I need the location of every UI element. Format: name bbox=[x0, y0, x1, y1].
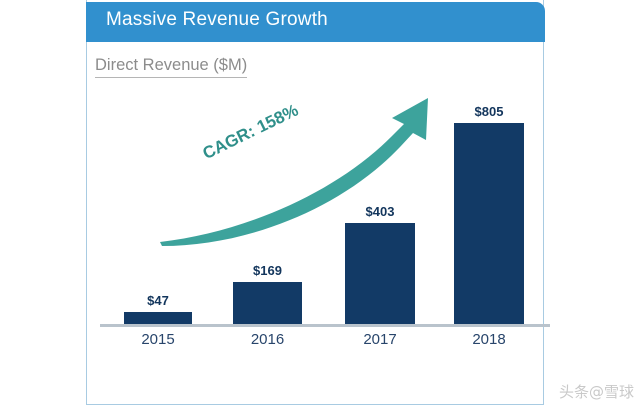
chart-plot-area: $472015$1692016$4032017$8052018 CAGR: 15… bbox=[86, 42, 544, 405]
x-axis-label-2015: 2015 bbox=[116, 331, 200, 348]
bar-value-label-2017: $403 bbox=[345, 204, 415, 219]
bar-2018 bbox=[454, 123, 524, 324]
bar-value-label-2016: $169 bbox=[233, 263, 302, 278]
page-title: Massive Revenue Growth bbox=[106, 9, 328, 31]
cagr-annotation-label: CAGR: 158% bbox=[200, 100, 302, 164]
x-axis-label-2018: 2018 bbox=[446, 331, 532, 348]
bar-value-label-2015: $47 bbox=[124, 293, 192, 308]
bar-2017 bbox=[345, 223, 415, 324]
slide-header-bar: Massive Revenue Growth bbox=[86, 2, 545, 42]
bar-2015 bbox=[124, 312, 192, 324]
bar-2016 bbox=[233, 282, 302, 324]
x-axis-line bbox=[100, 324, 550, 327]
x-axis-label-2017: 2017 bbox=[337, 331, 423, 348]
watermark-text: 头条@雪球 bbox=[559, 381, 634, 402]
bar-value-label-2018: $805 bbox=[454, 104, 524, 119]
x-axis-label-2016: 2016 bbox=[225, 331, 310, 348]
